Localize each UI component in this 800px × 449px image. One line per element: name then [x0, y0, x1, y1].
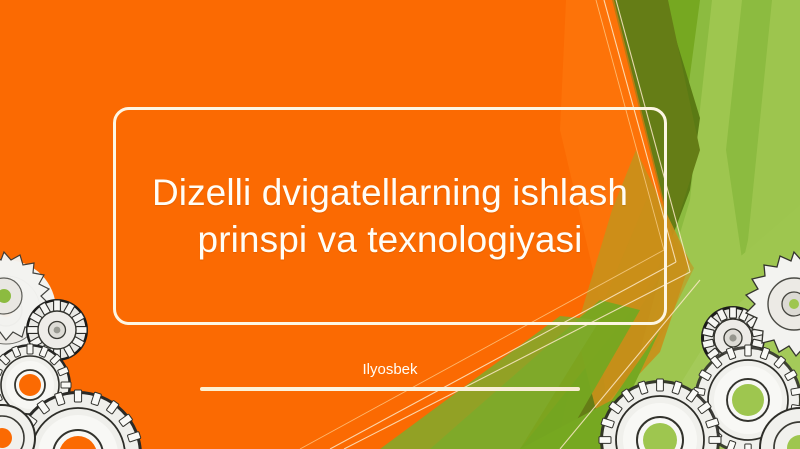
- subtitle-author: Ilyosbek: [200, 360, 580, 380]
- title-line-2: prinspi va texnologiyasi: [198, 219, 583, 260]
- title-line-1: Dizelli dvigatellarning ishlash: [152, 172, 628, 213]
- subtitle-divider: [200, 387, 580, 391]
- page-title: Dizelli dvigatellarning ishlash prinspi …: [136, 169, 644, 264]
- subtitle-block: Ilyosbek: [200, 360, 580, 391]
- title-frame: Dizelli dvigatellarning ishlash prinspi …: [113, 107, 667, 325]
- title-slide: Dizelli dvigatellarning ishlash prinspi …: [0, 0, 800, 449]
